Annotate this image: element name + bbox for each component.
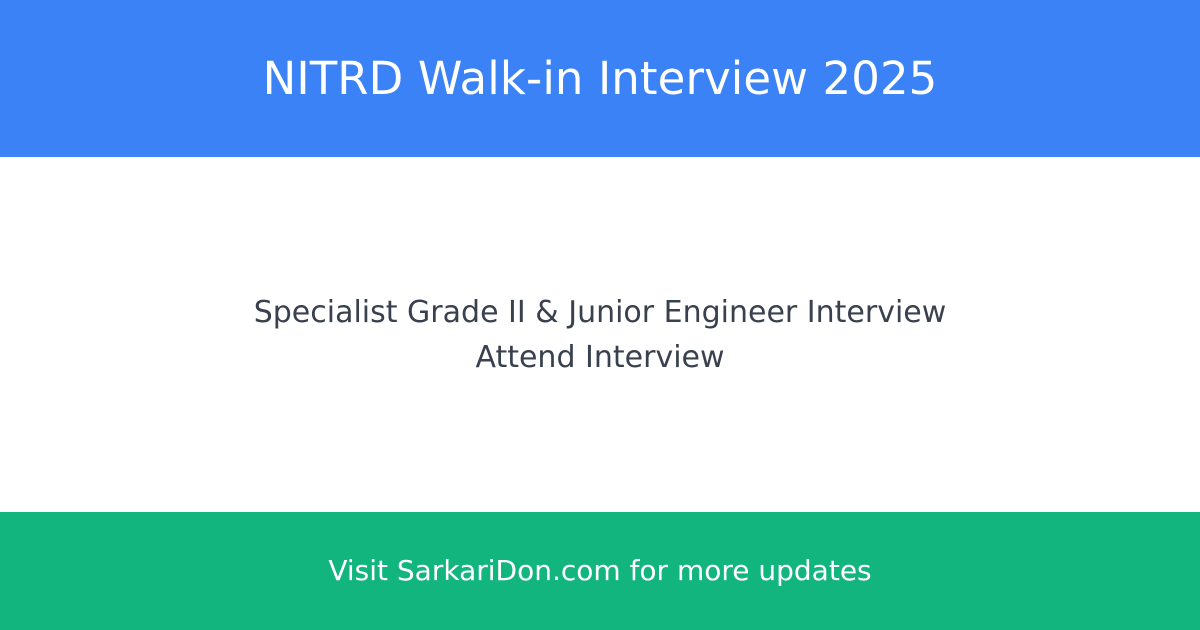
- page-title: NITRD Walk-in Interview 2025: [263, 53, 938, 105]
- body-line-primary: Specialist Grade II & Junior Engineer In…: [254, 290, 947, 335]
- poster-card: NITRD Walk-in Interview 2025 Specialist …: [0, 0, 1200, 630]
- body-text-block: Specialist Grade II & Junior Engineer In…: [254, 290, 947, 380]
- body-band: Specialist Grade II & Junior Engineer In…: [0, 157, 1200, 512]
- footer-promo-text: Visit SarkariDon.com for more updates: [328, 554, 871, 588]
- header-band: NITRD Walk-in Interview 2025: [0, 0, 1200, 157]
- body-line-secondary: Attend Interview: [254, 335, 947, 380]
- footer-band: Visit SarkariDon.com for more updates: [0, 512, 1200, 630]
